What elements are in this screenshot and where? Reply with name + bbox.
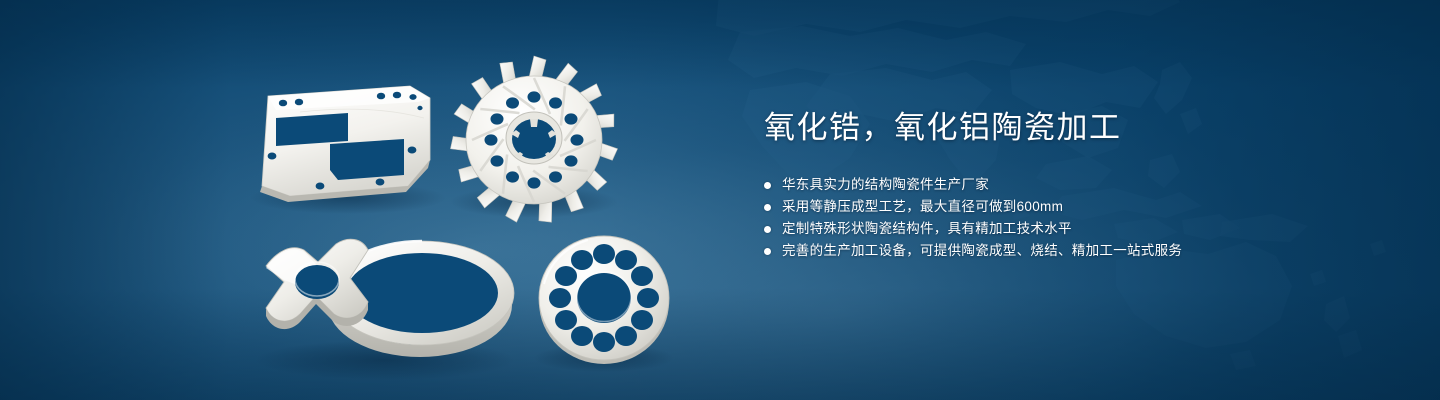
list-item: 完善的生产加工设备，可提供陶瓷成型、烧结、精加工一站式服务 (764, 240, 1364, 262)
ceramic-cross-vane (266, 239, 368, 329)
ceramic-impeller-disc (449, 56, 618, 225)
hero-banner: 氧化锆，氧化铝陶瓷加工 华东具实力的结构陶瓷件生产厂家 采用等静压成型工艺，最大… (0, 0, 1440, 400)
feature-text: 华东具实力的结构陶瓷件生产厂家 (782, 174, 989, 196)
ceramic-perforated-ring-disc (534, 236, 674, 372)
feature-list: 华东具实力的结构陶瓷件生产厂家 采用等静压成型工艺，最大直径可做到600mm 定… (764, 174, 1364, 262)
list-item: 采用等静压成型工艺，最大直径可做到600mm (764, 196, 1364, 218)
dot-bullet-icon (764, 204, 771, 211)
ceramic-flat-plate (250, 86, 446, 214)
dot-bullet-icon (764, 182, 771, 189)
product-showcase (0, 0, 760, 400)
banner-copy: 氧化锆，氧化铝陶瓷加工 华东具实力的结构陶瓷件生产厂家 采用等静压成型工艺，最大… (764, 108, 1364, 262)
feature-text: 定制特殊形状陶瓷结构件，具有精加工技术水平 (782, 218, 1072, 240)
dot-bullet-icon (764, 226, 771, 233)
feature-text: 完善的生产加工设备，可提供陶瓷成型、烧结、精加工一站式服务 (782, 240, 1182, 262)
feature-text: 采用等静压成型工艺，最大直径可做到600mm (782, 196, 1063, 218)
list-item: 定制特殊形状陶瓷结构件，具有精加工技术水平 (764, 218, 1364, 240)
list-item: 华东具实力的结构陶瓷件生产厂家 (764, 174, 1364, 196)
ceramic-cross-vane-and-rings (255, 239, 515, 380)
dot-bullet-icon (764, 248, 771, 255)
page-title: 氧化锆，氧化铝陶瓷加工 (764, 108, 1364, 148)
